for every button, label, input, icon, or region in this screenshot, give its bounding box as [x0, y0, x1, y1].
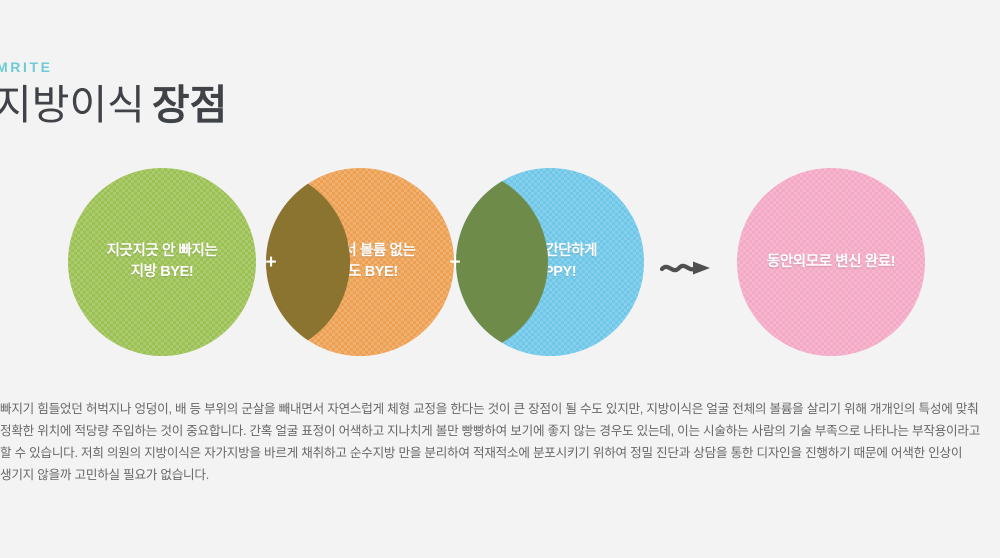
venn-circle-green-label: 지긋지긋 안 빠지는 지방 BYE! — [107, 241, 218, 283]
page-title-light: 지방이식 — [0, 82, 145, 128]
plus-operator-icon: + — [260, 252, 282, 274]
venn-diagram: 지긋지긋 안 빠지는 지방 BYE! 홀쭉해서 볼륨 없는 얼굴도 BYE! 주… — [0, 168, 1000, 368]
brand-eyebrow: MRITE — [0, 58, 420, 76]
plus-operator-icon: + — [444, 252, 466, 274]
venn-circle-blue: 주사로 간단하게 HAPPY! — [456, 168, 644, 356]
body-copy: 빠지기 힘들었던 허벅지나 엉덩이, 배 등 부위의 군살을 빼내면서 자연스럽… — [0, 398, 994, 486]
page-title-bold: 장점 — [152, 82, 227, 128]
wavy-arrow-right-icon — [660, 255, 722, 281]
venn-circle-orange-label: 홀쭉해서 볼륨 없는 얼굴도 BYE! — [305, 241, 416, 283]
page-header: MRITE 지방이식장점 — [0, 58, 420, 130]
body-paragraph: 빠지기 힘들었던 허벅지나 엉덩이, 배 등 부위의 군살을 빼내면서 자연스럽… — [0, 398, 994, 486]
infographic-page: MRITE 지방이식장점 지긋지긋 안 빠지는 지방 BYE! 홀쭉해서 볼륨 … — [0, 0, 1000, 558]
venn-circle-green: 지긋지긋 안 빠지는 지방 BYE! — [68, 168, 256, 356]
venn-circle-pink-label: 동안외모로 변신 완료! — [767, 252, 895, 273]
venn-circle-blue-label: 주사로 간단하게 HAPPY! — [503, 241, 597, 283]
venn-circle-pink: 동안외모로 변신 완료! — [737, 168, 925, 356]
venn-circle-orange: 홀쭉해서 볼륨 없는 얼굴도 BYE! — [266, 168, 454, 356]
page-title: 지방이식장점 — [0, 80, 420, 130]
